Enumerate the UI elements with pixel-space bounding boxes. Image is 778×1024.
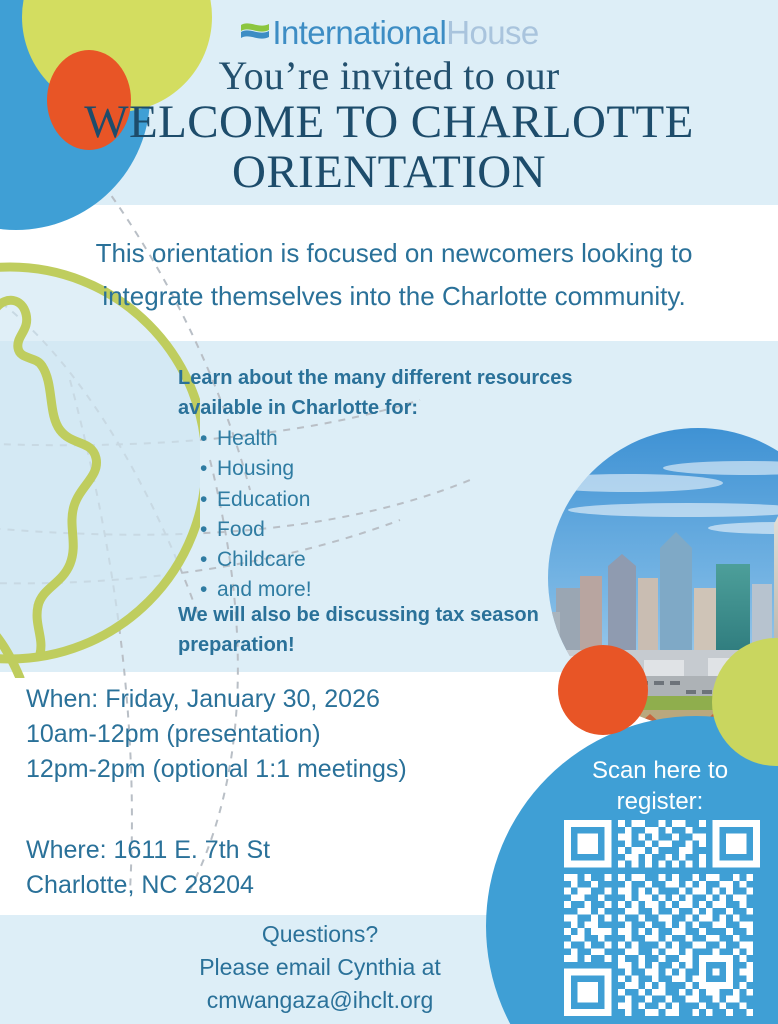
event-where: Where: 1611 E. 7th St Charlotte, NC 2820…	[26, 833, 270, 903]
list-item: Housing	[200, 454, 312, 484]
logo-word-international: International	[272, 14, 446, 51]
scan-label-line-2: register:	[548, 786, 772, 817]
event-where-line-1: Where: 1611 E. 7th St	[26, 833, 270, 868]
list-item: Education	[200, 485, 312, 515]
tax-season-note: We will also be discussing tax season pr…	[178, 600, 578, 660]
contact-line-1: Questions?	[160, 918, 480, 951]
event-when: When: Friday, January 30, 2026 10am-12pm…	[26, 682, 407, 787]
event-when-line-2: 10am-12pm (presentation)	[26, 717, 407, 752]
international-house-logo: InternationalHouse	[0, 14, 778, 52]
event-where-line-2: Charlotte, NC 28204	[26, 868, 270, 903]
scan-to-register-label: Scan here to register:	[548, 755, 772, 817]
contact-line-2: Please email Cynthia at	[160, 951, 480, 984]
contact-email[interactable]: cmwangaza@ihclt.org	[160, 984, 480, 1017]
learn-heading: Learn about the many different resources…	[178, 363, 648, 423]
page-title-line-1: WELCOME TO CHARLOTTE	[0, 97, 778, 147]
wave-flag-icon	[239, 20, 271, 51]
list-item: Childcare	[200, 545, 312, 575]
list-item: Food	[200, 515, 312, 545]
contact-block: Questions? Please email Cynthia at cmwan…	[160, 918, 480, 1017]
resource-list: Health Housing Education Food Childcare …	[200, 424, 312, 606]
qr-code[interactable]	[564, 820, 760, 1016]
logo-word-house: House	[446, 14, 538, 51]
invite-kicker: You’re invited to our	[0, 52, 778, 99]
list-item: Health	[200, 424, 312, 454]
event-when-line-1: When: Friday, January 30, 2026	[26, 682, 407, 717]
intro-paragraph: This orientation is focused on newcomers…	[44, 232, 744, 318]
page-title: WELCOME TO CHARLOTTE ORIENTATION	[0, 97, 778, 197]
page-title-line-2: ORIENTATION	[0, 147, 778, 197]
event-flyer: InternationalHouse You’re invited to our…	[0, 0, 778, 1024]
scan-label-line-1: Scan here to	[548, 755, 772, 786]
event-when-line-3: 12pm-2pm (optional 1:1 meetings)	[26, 752, 407, 787]
flyer-content: InternationalHouse You’re invited to our…	[0, 0, 778, 1024]
